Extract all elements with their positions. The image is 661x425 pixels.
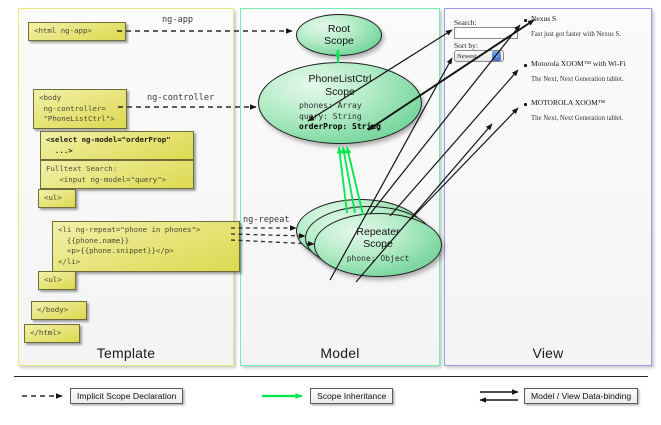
list-bullet bbox=[524, 103, 527, 106]
list-bullet bbox=[524, 19, 527, 22]
code-ul-close-tag: <ul> bbox=[38, 271, 76, 290]
root-scope-ellipse: RootScope bbox=[296, 14, 382, 56]
code-search-input: Fulltext Search: <input ng-model="query"… bbox=[40, 160, 194, 189]
view-search-input[interactable] bbox=[454, 27, 518, 39]
code-li-repeat-tag: <li ng-repeat="phone in phones"> {{phone… bbox=[52, 221, 240, 272]
repeater-scope-props: phone: Object bbox=[347, 254, 410, 265]
phonelistctrl-scope-title: PhoneListCtrlScope bbox=[308, 73, 371, 98]
view-sort-label: Sort by: bbox=[454, 41, 478, 50]
list-bullet bbox=[524, 64, 527, 67]
panel-model-label: Model bbox=[241, 345, 439, 361]
repeater-scope-title: RepeaterScope bbox=[356, 226, 399, 251]
phonelistctrl-scope-props: phones: Array query: String orderProp: S… bbox=[299, 101, 381, 133]
legend-label-implicit-scope-declaration: Implicit Scope Declaration bbox=[70, 388, 183, 404]
root-scope-title: RootScope bbox=[324, 23, 354, 48]
view-sort-selected-value: Newest bbox=[457, 53, 477, 60]
panel-view-label: View bbox=[445, 345, 651, 361]
code-html-tag: <html ng-app> bbox=[28, 22, 126, 41]
code-select-tag: <select ng-model="orderProp" ...> bbox=[40, 131, 194, 160]
code-ul-open-tag: <ul> bbox=[38, 189, 76, 208]
label-ng-controller: ng-controller bbox=[147, 93, 214, 103]
view-phone-name[interactable]: MOTOROLA XOOM™ bbox=[531, 98, 605, 107]
panel-template-label: Template bbox=[19, 345, 233, 361]
view-phone-name[interactable]: Motorola XOOM™ with Wi-Fi bbox=[531, 59, 626, 68]
view-phone-name[interactable]: Nexus S bbox=[531, 14, 556, 23]
diagram-canvas: Template Model View <html ng-app> <body … bbox=[0, 0, 661, 425]
label-ng-app: ng-app bbox=[162, 15, 193, 25]
label-ng-repeat: ng-repeat bbox=[243, 215, 290, 225]
view-search-label: Search: bbox=[454, 18, 477, 27]
chevron-updown-icon: ↕ bbox=[492, 51, 501, 61]
view-sort-select[interactable]: Newest ↕ bbox=[454, 50, 504, 62]
code-html-close-tag: </html> bbox=[24, 324, 80, 343]
code-body-tag: <body ng-controller= "PhoneListCtrl"> bbox=[33, 89, 127, 129]
legend: Implicit Scope Declaration Scope Inherit… bbox=[14, 376, 648, 417]
legend-label-scope-inheritance: Scope Inheritance bbox=[310, 388, 393, 404]
legend-label-model-view-data-binding: Model / View Data-binding bbox=[524, 388, 638, 404]
view-phone-snippet: Fast just got faster with Nexus S. bbox=[531, 31, 621, 38]
phonelistctrl-scope-ellipse: PhoneListCtrlScope phones: Array query: … bbox=[258, 62, 422, 144]
view-phone-snippet: The Next, Next Generation tablet. bbox=[531, 115, 623, 122]
code-body-close-tag: </body> bbox=[31, 301, 87, 320]
repeater-scope-ellipse: RepeaterScope phone: Object bbox=[314, 213, 442, 277]
view-phone-snippet: The Next, Next Generation tablet. bbox=[531, 76, 623, 83]
